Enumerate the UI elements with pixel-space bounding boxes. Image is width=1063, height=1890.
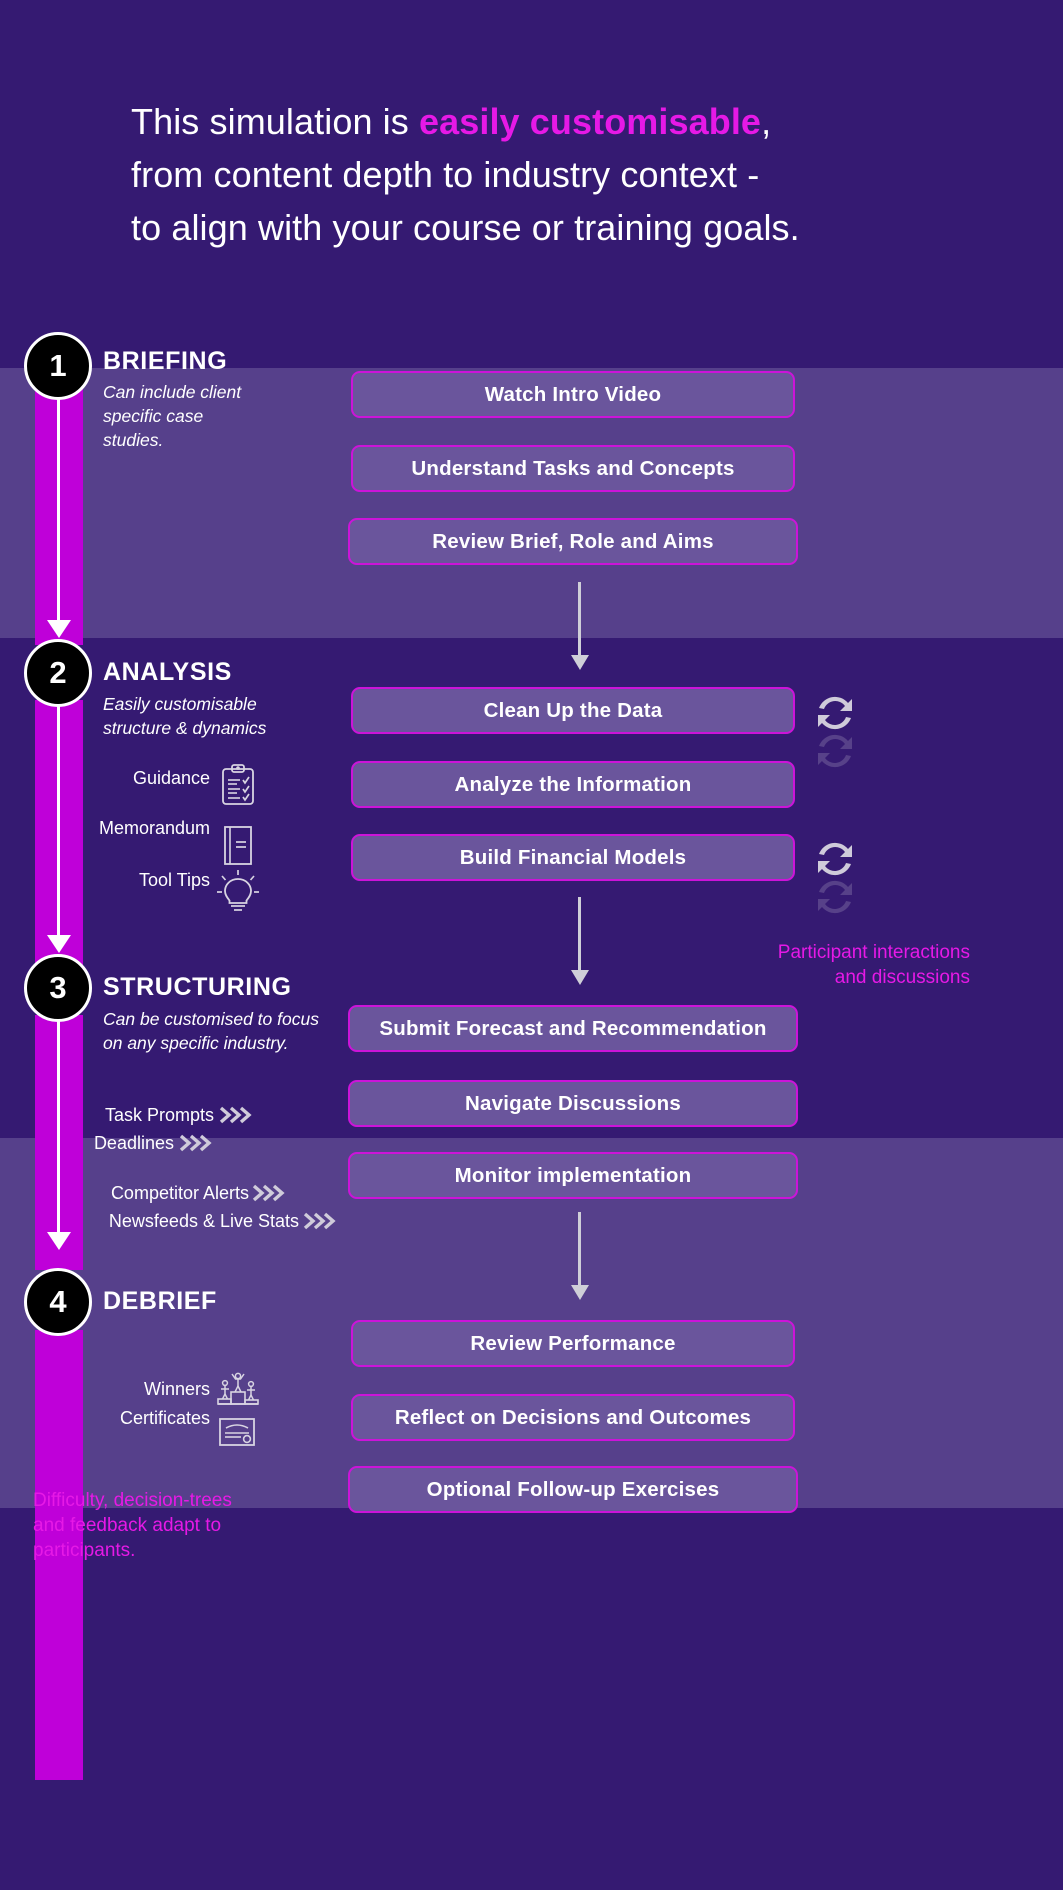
stage-subtitle-briefing: Can include client specific case studies… [103, 380, 253, 452]
feature-label-certificates: Certificates [40, 1408, 210, 1429]
step-circle-1: 1 [24, 332, 92, 400]
stage-title-briefing: BRIEFING [103, 347, 227, 376]
annotation-adapt-line2: and feedback adapt to [33, 1515, 221, 1536]
triple-chevron-icon-newsfeeds [303, 1211, 337, 1231]
headline-line2: from content depth to industry context - [131, 154, 759, 195]
clipboard-checklist-icon [218, 763, 258, 812]
annotation-participant-interactions: Participant interactions and discussions [640, 940, 970, 990]
lightbulb-icon [216, 868, 260, 921]
rail-arrow-3 [47, 1232, 71, 1250]
connector-arrow-1 [571, 655, 589, 670]
feature-label-competitor-alerts: Competitor Alerts [44, 1183, 249, 1204]
action-analyze-info[interactable]: Analyze the Information [351, 761, 795, 808]
feature-label-deadlines: Deadlines [44, 1133, 174, 1154]
refresh-loop-icon-2-ghost [811, 874, 859, 925]
triple-chevron-icon-task-prompts [219, 1105, 253, 1125]
stage-title-debrief: DEBRIEF [103, 1287, 217, 1316]
step-circle-3: 3 [24, 954, 92, 1022]
step-circle-2: 2 [24, 639, 92, 707]
band-debrief [0, 1508, 1063, 1890]
annotation-adapt-line1: Difficulty, decision-trees [33, 1490, 232, 1511]
triple-chevron-icon-competitor-alerts [252, 1183, 286, 1203]
stage-title-structuring: STRUCTURING [103, 973, 292, 1002]
action-review-performance[interactable]: Review Performance [351, 1320, 795, 1367]
feature-label-task-prompts: Task Prompts [44, 1105, 214, 1126]
step-circle-4: 4 [24, 1268, 92, 1336]
feature-label-tool-tips: Tool Tips [60, 870, 210, 891]
rail-line-1 [57, 385, 60, 625]
action-optional-followup[interactable]: Optional Follow-up Exercises [348, 1466, 798, 1513]
stage-subtitle-analysis: Easily customisable structure & dynamics [103, 692, 293, 740]
feature-label-newsfeeds: Newsfeeds & Live Stats [44, 1211, 299, 1232]
action-review-brief[interactable]: Review Brief, Role and Aims [348, 518, 798, 565]
headline-highlight: easily customisable [419, 101, 761, 142]
header-headline: This simulation is easily customisable, … [131, 95, 931, 254]
action-understand-tasks[interactable]: Understand Tasks and Concepts [351, 445, 795, 492]
action-clean-up-data[interactable]: Clean Up the Data [351, 687, 795, 734]
connector-line-1 [578, 582, 581, 660]
memo-book-icon [218, 823, 258, 873]
rail-arrow-1 [47, 620, 71, 638]
simulation-flow-infographic: This simulation is easily customisable, … [0, 0, 1063, 1890]
connector-arrow-2 [571, 970, 589, 985]
stage-subtitle-structuring: Can be customised to focus on any specif… [103, 1007, 333, 1055]
annotation-participant-line2: and discussions [835, 967, 970, 988]
annotation-adaptive-difficulty: Difficulty, decision-trees and feedback … [33, 1488, 373, 1563]
headline-line3: to align with your course or training go… [131, 207, 800, 248]
feature-label-memorandum: Memorandum [40, 818, 210, 839]
annotation-adapt-line3: participants. [33, 1540, 135, 1561]
headline-prefix: This simulation is [131, 101, 419, 142]
header-banner: This simulation is easily customisable, … [0, 0, 1063, 368]
triple-chevron-icon-deadlines [179, 1133, 213, 1153]
action-navigate-discussions[interactable]: Navigate Discussions [348, 1080, 798, 1127]
action-monitor-implementation[interactable]: Monitor implementation [348, 1152, 798, 1199]
action-submit-forecast[interactable]: Submit Forecast and Recommendation [348, 1005, 798, 1052]
action-watch-intro-video[interactable]: Watch Intro Video [351, 371, 795, 418]
connector-arrow-3 [571, 1285, 589, 1300]
connector-line-3 [578, 1212, 581, 1290]
rail-arrow-2 [47, 935, 71, 953]
feature-label-winners: Winners [60, 1379, 210, 1400]
podium-icon [216, 1368, 260, 1415]
headline-suffix: , [761, 101, 771, 142]
refresh-loop-icon-1-ghost [811, 728, 859, 779]
annotation-participant-line1: Participant interactions [778, 942, 970, 963]
certificate-icon [216, 1415, 258, 1454]
feature-label-guidance: Guidance [60, 768, 210, 789]
action-build-models[interactable]: Build Financial Models [351, 834, 795, 881]
connector-line-2 [578, 897, 581, 975]
action-reflect-decisions[interactable]: Reflect on Decisions and Outcomes [351, 1394, 795, 1441]
stage-title-analysis: ANALYSIS [103, 658, 232, 687]
